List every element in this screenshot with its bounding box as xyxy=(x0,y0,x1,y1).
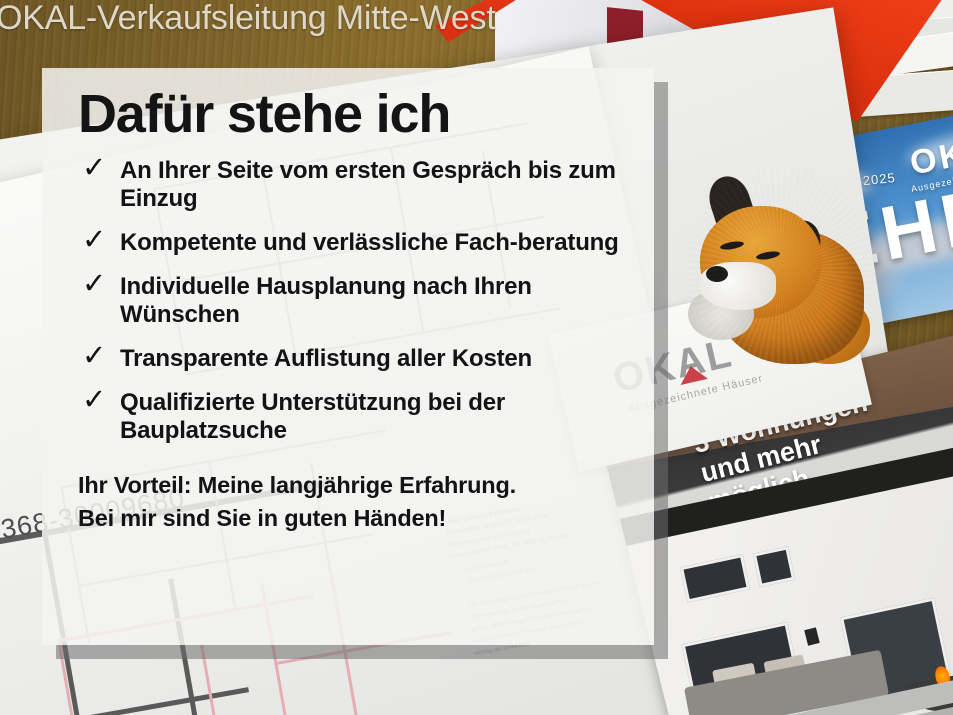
closing-statement: Ihr Vorteil: Meine langjährige Erfahrung… xyxy=(78,469,634,534)
page-title: OKAL-Verkaufsleitung Mitte-West xyxy=(0,0,496,38)
list-item-label: Transparente Auflistung aller Kosten xyxy=(120,345,532,372)
list-item: ✓ Qualifizierte Unterstützung bei der Ba… xyxy=(68,389,634,445)
brochure-brand-name: OKAL xyxy=(903,124,953,185)
list-item: ✓ Kompetente und verlässliche Fach-berat… xyxy=(68,229,634,257)
list-item-label: An Ihrer Seite vom ersten Gespräch bis z… xyxy=(120,157,616,212)
list-item: ✓ Transparente Auflistung aller Kosten xyxy=(68,345,634,373)
check-icon: ✓ xyxy=(82,270,106,299)
benefits-list: ✓ An Ihrer Seite vom ersten Gespräch bis… xyxy=(68,157,634,446)
check-icon: ✓ xyxy=(82,386,106,415)
check-icon: ✓ xyxy=(82,342,106,371)
brochure-brand-logo: OKAL Ausgezeichnete Häuser xyxy=(903,124,953,194)
list-item-label: Qualifizierte Unterstützung bei der Baup… xyxy=(120,389,505,444)
check-icon: ✓ xyxy=(82,154,106,183)
list-item: ✓ Individuelle Hausplanung nach Ihren Wü… xyxy=(68,273,634,329)
plush-fox-toy xyxy=(694,170,866,368)
panel-headline: Dafür stehe ich xyxy=(78,86,634,143)
check-icon: ✓ xyxy=(82,226,106,255)
fox-nose xyxy=(706,266,728,282)
content-panel: Dafür stehe ich ✓ An Ihrer Seite vom ers… xyxy=(42,68,654,645)
list-item-label: Individuelle Hausplanung nach Ihren Wüns… xyxy=(120,273,532,328)
slide-canvas: MEHR 15.03. – 31.12.2025 OKAL Ausgezeich… xyxy=(0,0,953,715)
list-item: ✓ An Ihrer Seite vom ersten Gespräch bis… xyxy=(68,157,634,213)
list-item-label: Kompetente und verlässliche Fach-beratun… xyxy=(120,229,619,256)
